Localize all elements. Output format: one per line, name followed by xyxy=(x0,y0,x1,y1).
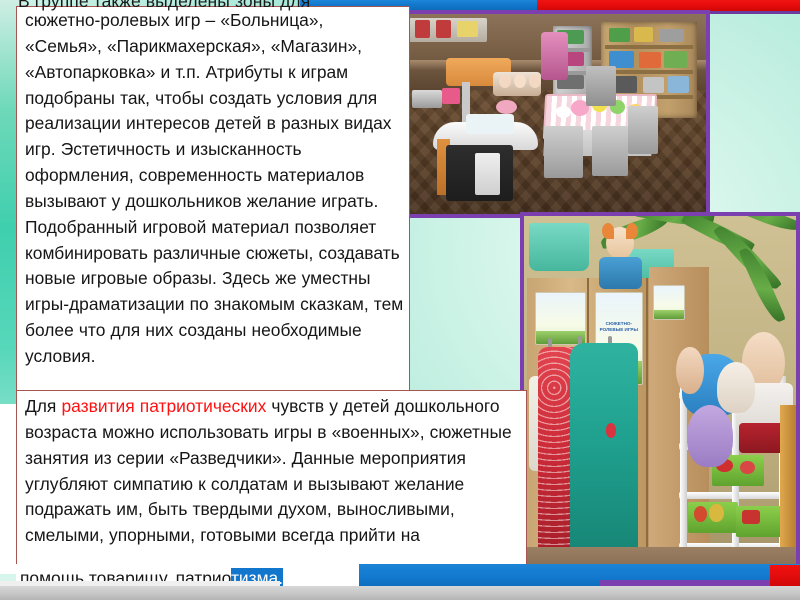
doll-white-dress xyxy=(717,362,755,413)
clipped-top-line-text: В группе также выделены зоны для xyxy=(18,0,310,11)
costume-teal-cape xyxy=(570,343,638,554)
poster-small xyxy=(653,285,685,320)
photo-dress-corner[interactable]: СЮЖЕТНО-РОЛЕВЫЕ ИГРЫ xyxy=(520,212,800,584)
lower-text-lead: Для xyxy=(25,396,61,416)
bottom-gray-bar xyxy=(0,586,800,600)
upper-text-block-body: сюжетно-ролевых игр – «Больница», «Семья… xyxy=(17,7,409,370)
slide-canvas: СЮЖЕТНО-РОЛЕВЫЕ ИГРЫ xyxy=(0,0,800,600)
clipped-top-line: В группе также выделены зоны для xyxy=(18,0,418,11)
photo-play-area[interactable] xyxy=(402,10,710,218)
toy-cat xyxy=(597,227,643,289)
poster-role-play-games-text: СЮЖЕТНО-РОЛЕВЫЕ ИГРЫ xyxy=(599,321,638,333)
photo-play-area-image xyxy=(406,14,706,214)
lower-text-rest: чувств у детей дошкольного возраста можн… xyxy=(25,396,512,545)
doll-small xyxy=(676,347,703,394)
plush-purple-bear xyxy=(687,405,733,467)
photo-dress-corner-image: СЮЖЕТНО-РОЛЕВЫЕ ИГРЫ xyxy=(524,216,796,580)
highlighted-phrase: развития патриотических xyxy=(61,396,266,416)
bottom-right-red-accent xyxy=(770,565,800,587)
upper-text-block[interactable]: сюжетно-ролевых игр – «Больница», «Семья… xyxy=(16,6,410,394)
lower-text-block[interactable]: Для развития патриотических чувств у дет… xyxy=(16,390,527,568)
lower-text-block-body: Для развития патриотических чувств у дет… xyxy=(17,391,526,549)
